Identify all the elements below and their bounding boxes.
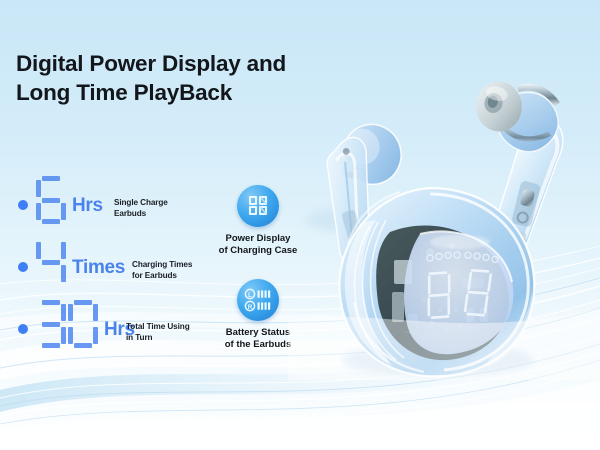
spec-description-line-2: for Earbuds — [132, 271, 177, 280]
left-right-battery-bars-icon: L R — [237, 279, 279, 321]
bullet-dot-icon — [18, 262, 28, 272]
badge-circle — [237, 185, 279, 227]
spec-value-group: Hrs — [36, 300, 135, 348]
product-image — [288, 70, 600, 380]
seven-segment-digits — [36, 300, 98, 348]
badge-caption-line-1: Battery Status — [226, 327, 290, 338]
bullet-dot-icon — [18, 324, 28, 334]
spec-description-line-2: Earbuds — [114, 209, 146, 218]
spec-description-line-1: Total Time Using — [126, 322, 190, 331]
spec-description-line-1: Charging Times — [132, 260, 192, 269]
badge-circle: L R — [237, 279, 279, 321]
spec-unit: Hrs — [72, 195, 103, 217]
spec-description-line-1: Single Charge — [114, 198, 168, 207]
seven-segment-digits — [36, 176, 66, 224]
svg-text:L: L — [248, 292, 252, 299]
spec-description: Charging Times for Earbuds — [132, 260, 192, 282]
svg-text:R: R — [248, 304, 253, 311]
seven-segment-digit — [68, 300, 98, 348]
bullet-dot-icon — [18, 200, 28, 210]
digital-display-88-icon — [237, 185, 279, 227]
seven-segment-digit — [36, 176, 66, 224]
seven-segment-digit — [36, 300, 66, 348]
badge-caption-line-1: Power Display — [226, 233, 291, 244]
spec-description: Single Charge Earbuds — [114, 198, 168, 220]
badge-caption-line-2: of the Earbuds — [225, 339, 292, 350]
badge-caption-line-2: of Charging Case — [219, 245, 298, 256]
spec-description: Total Time Using in Turn — [126, 322, 190, 344]
spec-description-line-2: in Turn — [126, 333, 152, 342]
spec-value-group: Hrs — [36, 176, 103, 224]
seven-segment-digits — [36, 238, 66, 286]
spec-unit: Times — [72, 257, 125, 279]
marketing-banner: Digital Power Display and Long Time Play… — [0, 0, 600, 450]
seven-segment-digit — [36, 238, 66, 286]
spec-value-group: Times — [36, 238, 125, 286]
headline-line-1: Digital Power Display and — [16, 51, 286, 76]
